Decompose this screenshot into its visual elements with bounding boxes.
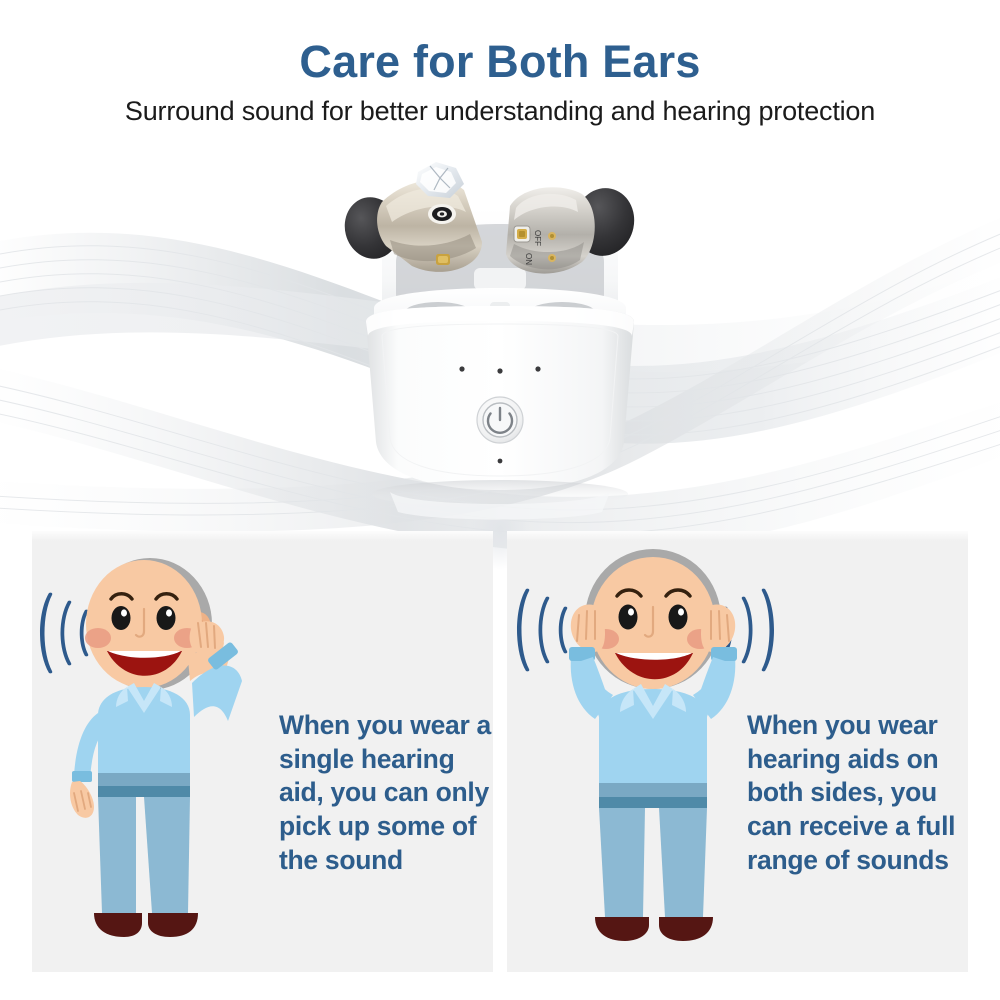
left-hearing-aid [338,162,482,272]
cupping-hand-left [571,604,605,651]
panel-caption: When you wear hearing aids on both sides… [747,709,962,877]
resting-hand [70,781,94,818]
sound-wave-icon-left [517,589,567,672]
microphone-port [428,204,456,224]
sound-wave-icon-left [40,593,88,674]
right-hearing-aid: OFF ON [506,183,640,274]
gold-contact-left [436,254,450,265]
page-title: Care for Both Ears [0,38,1000,85]
page-subtitle: Surround sound for better understanding … [0,96,1000,127]
status-dot [498,459,503,464]
svg-text:OFF: OFF [533,230,542,246]
benefit-panels: When you wear a single hearing aid, you … [32,531,968,972]
svg-text:ON: ON [524,253,533,265]
poster-canvas: Care for Both Ears Surround sound for be… [0,0,1000,1000]
panel-single-hearing-aid: When you wear a single hearing aid, you … [32,531,493,972]
product-image: OFF ON [330,150,670,520]
charging-case [366,306,634,520]
panel-both-hearing-aids: When you wear hearing aids on both sides… [507,531,968,972]
cupping-hand [190,621,224,655]
power-button [477,397,523,443]
header: Care for Both Ears Surround sound for be… [0,38,1000,127]
panel-caption: When you wear a single hearing aid, you … [279,709,493,877]
